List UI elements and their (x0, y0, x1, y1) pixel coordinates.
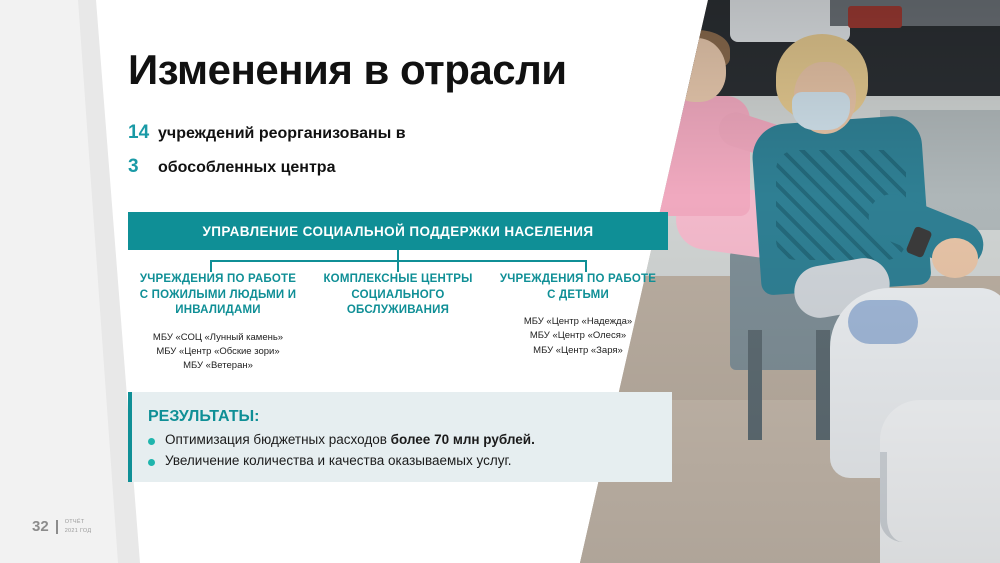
list-item: МБУ «СОЦ «Лунный камень» (134, 331, 302, 345)
list-item: МБУ «Центр «Надежда» (494, 315, 662, 329)
results-bullets: Оптимизация бюджетных расходов более 70 … (148, 432, 648, 474)
connector-stem-center-top (397, 250, 399, 260)
list-item: МБУ «Центр «Обские зори» (134, 345, 302, 359)
lead-row: 14 учреждений реорганизованы в (128, 122, 598, 144)
lead-text: учреждений реорганизованы в (158, 125, 406, 143)
bullet-text: Оптимизация бюджетных расходов более 70 … (165, 432, 535, 447)
org-column-title: УЧРЕЖДЕНИЯ ПО РАБОТЕ С ДЕТЬМИ (494, 272, 662, 303)
lead-block: 14 учреждений реорганизованы в 3 обособл… (128, 122, 598, 190)
page-title: Изменения в отрасли (128, 46, 567, 94)
bullet-text-plain: Оптимизация бюджетных расходов (165, 432, 391, 447)
bullet-dot-icon (148, 459, 155, 466)
org-chart-columns: УЧРЕЖДЕНИЯ ПО РАБОТЕ С ПОЖИЛЫМИ ЛЮДЬМИ И… (128, 272, 668, 373)
lead-number: 14 (128, 122, 158, 144)
footer-divider-icon (56, 520, 58, 534)
footer-line-1: ОТЧЁТ (65, 518, 92, 526)
bullet-dot-icon (148, 438, 155, 445)
org-chart-header-label: УПРАВЛЕНИЕ СОЦИАЛЬНОЙ ПОДДЕРЖКИ НАСЕЛЕНИ… (203, 224, 594, 239)
org-column-title: УЧРЕЖДЕНИЯ ПО РАБОТЕ С ПОЖИЛЫМИ ЛЮДЬМИ И… (134, 272, 302, 319)
lead-number: 3 (128, 156, 158, 178)
bullet-text-plain: Увеличение количества и качества оказыва… (165, 453, 512, 468)
list-item: МБУ «Ветеран» (134, 359, 302, 373)
list-item: Увеличение количества и качества оказыва… (148, 453, 648, 468)
slide: Изменения в отрасли 14 учреждений реорга… (0, 0, 1000, 563)
org-chart-header: УПРАВЛЕНИЕ СОЦИАЛЬНОЙ ПОДДЕРЖКИ НАСЕЛЕНИ… (128, 212, 668, 250)
lead-text: обособленных центра (158, 159, 335, 177)
bullet-text: Увеличение количества и качества оказыва… (165, 453, 512, 468)
connector-stem-left (210, 260, 212, 272)
org-column-complex-centers: КОМПЛЕКСНЫЕ ЦЕНТРЫ СОЦИАЛЬНОГО ОБСЛУЖИВА… (308, 272, 488, 373)
list-item: МБУ «Центр «Олеся» (494, 329, 662, 343)
footer-caption: ОТЧЁТ 2021 ГОД (65, 518, 92, 535)
photo-ceiling-rail (640, 0, 660, 110)
footer-line-2: 2021 ГОД (65, 527, 92, 535)
bullet-text-bold: более 70 млн рублей. (391, 432, 535, 447)
org-column-list: МБУ «Центр «Надежда» МБУ «Центр «Олеся» … (494, 315, 662, 358)
results-title: РЕЗУЛЬТАТЫ: (148, 408, 260, 426)
page-number: 32 (32, 518, 49, 535)
footer: 32 ОТЧЁТ 2021 ГОД (32, 518, 91, 535)
org-column-title: КОМПЛЕКСНЫЕ ЦЕНТРЫ СОЦИАЛЬНОГО ОБСЛУЖИВА… (314, 272, 482, 319)
list-item: МБУ «Центр «Заря» (494, 344, 662, 358)
org-column-list: МБУ «СОЦ «Лунный камень» МБУ «Центр «Обс… (134, 331, 302, 374)
org-column-children: УЧРЕЖДЕНИЯ ПО РАБОТЕ С ДЕТЬМИ МБУ «Центр… (488, 272, 668, 373)
list-item: Оптимизация бюджетных расходов более 70 … (148, 432, 648, 447)
lead-row: 3 обособленных центра (128, 156, 598, 178)
org-column-elderly: УЧРЕЖДЕНИЯ ПО РАБОТЕ С ПОЖИЛЫМИ ЛЮДЬМИ И… (128, 272, 308, 373)
org-chart-connectors (128, 250, 668, 272)
connector-stem-right (585, 260, 587, 272)
connector-stem-center (397, 260, 399, 272)
